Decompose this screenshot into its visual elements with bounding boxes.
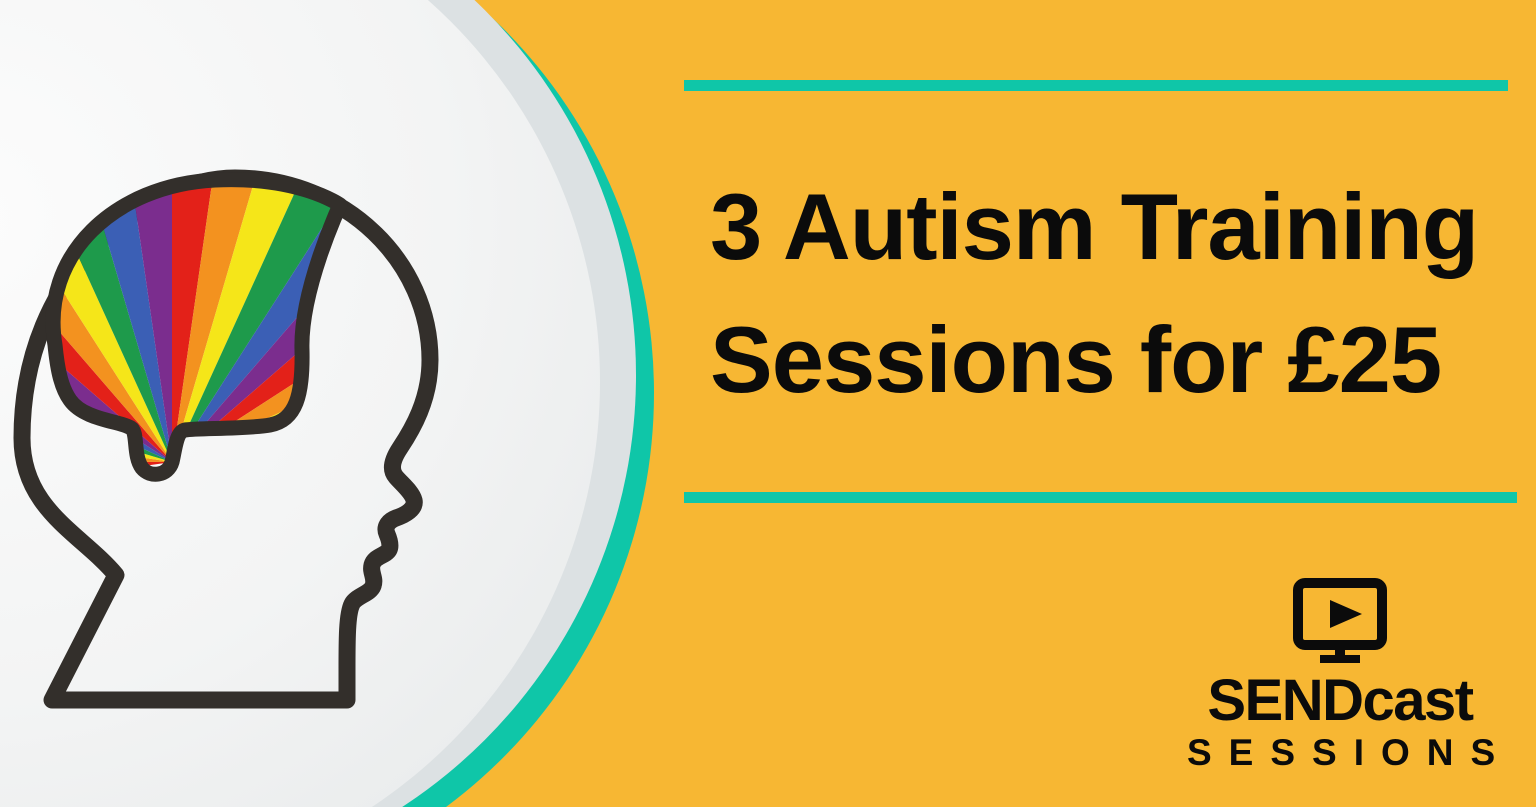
rainbow-rays [0,0,700,559]
monitor-stand-base [1320,655,1360,663]
bottom-accent-rule [684,492,1517,503]
headline-line-1: 3 Autism Training [710,160,1510,293]
promo-graphic: 3 Autism Training Sessions for £25 SENDc… [0,0,1536,807]
head-profile-icon [0,0,700,807]
logo-sublabel: SESSIONS [1170,730,1510,776]
headline-line-2: Sessions for £25 [710,293,1510,426]
top-accent-rule [684,80,1508,91]
monitor-play-icon [1292,578,1388,664]
logo-wordmark: SENDcast [1170,672,1510,730]
content-panel: 3 Autism Training Sessions for £25 SENDc… [680,0,1536,807]
play-triangle-icon [1330,600,1362,628]
sendcast-logo: SENDcast SESSIONS [1170,578,1510,776]
artwork-panel [0,0,700,807]
page-title: 3 Autism Training Sessions for £25 [710,160,1510,427]
rainbow-ray [172,460,700,559]
